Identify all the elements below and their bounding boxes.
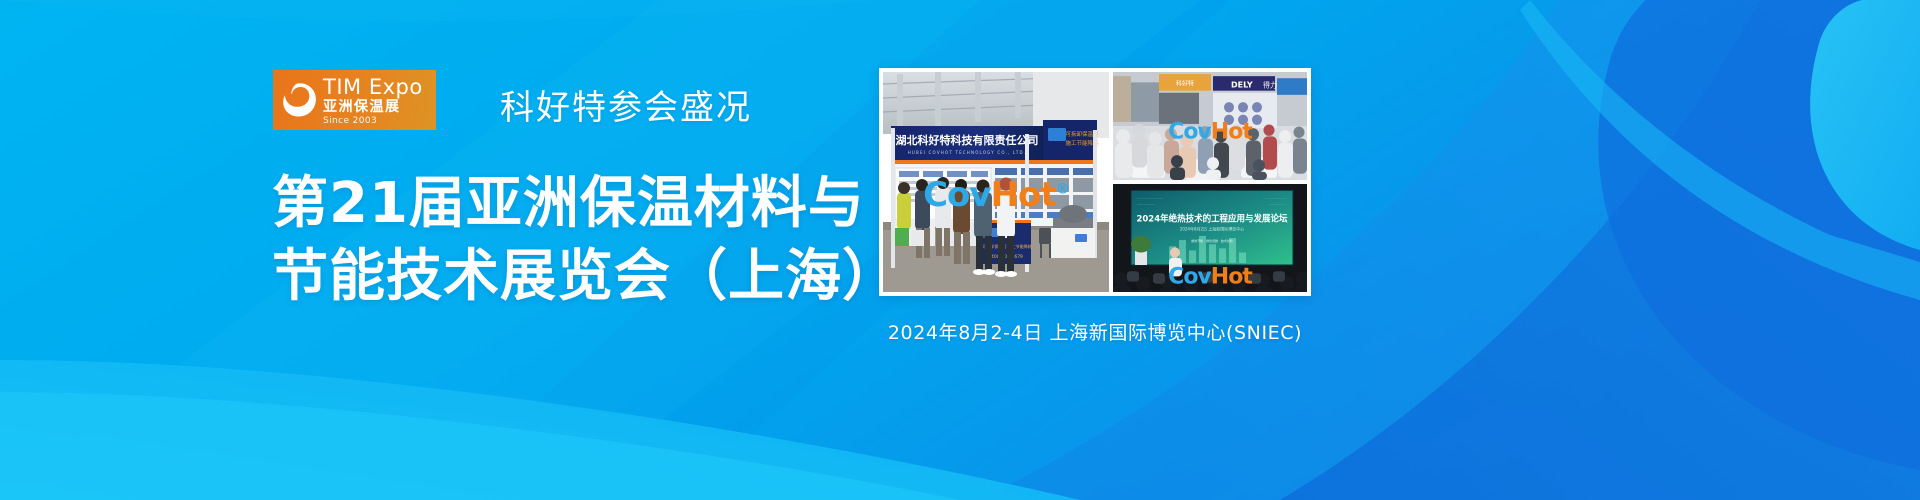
svg-text:DELY: DELY	[1231, 79, 1253, 89]
svg-text:绝热节能 · 绿色低碳 · 技术创新: 绝热节能 · 绿色低碳 · 技术创新	[1191, 238, 1233, 243]
date-venue-text: 2024年8月2-4日 上海新国际博览中心(SNIEC)	[879, 318, 1311, 345]
logo-since-text: Since 2003	[323, 117, 423, 126]
svg-text:得力: 得力	[1263, 80, 1277, 89]
svg-text:HUBEI COVHOT TECHNOLOGY CO., L: HUBEI COVHOT TECHNOLOGY CO., LTD.	[908, 150, 1027, 155]
svg-text:2024年绝热技术的工程应用与发展论坛: 2024年绝热技术的工程应用与发展论坛	[1136, 212, 1287, 224]
forum-photo-image: 2024年绝热技术的工程应用与发展论坛 2024年8月2日 上海新国际博览中心 …	[1113, 184, 1307, 292]
headline-line-2: 节能技术展览会（上海）	[272, 241, 899, 314]
hall-crowd-photo-image: 科好特 DELY 得力	[1113, 72, 1307, 180]
hall-crowd-photo[interactable]: 科好特 DELY 得力	[1113, 72, 1307, 180]
svg-text:湖北科好特科技有限责任公司: 湖北科好特科技有限责任公司	[896, 133, 1039, 147]
exhibition-banner: TIM Expo 亚洲保温展 Since 2003 科好特参会盛况 第21届亚洲…	[0, 0, 1920, 500]
headline-line-1: 第21届亚洲保温材料与	[272, 168, 899, 241]
banner-subtitle: 科好特参会盛况	[500, 80, 752, 129]
booth-photo-image: 湖北科好特科技有限责任公司 HUBEI COVHOT TECHNOLOGY CO…	[883, 72, 1109, 292]
booth-photo[interactable]: 湖北科好特科技有限责任公司 HUBEI COVHOT TECHNOLOGY CO…	[883, 72, 1109, 292]
exhibition-photo-collage: 湖北科好特科技有限责任公司 HUBEI COVHOT TECHNOLOGY CO…	[879, 68, 1311, 296]
logo-english-text: TIM Expo	[323, 77, 423, 98]
forum-photo[interactable]: 2024年绝热技术的工程应用与发展论坛 2024年8月2日 上海新国际博览中心 …	[1113, 184, 1307, 292]
swirl-yin-yang-icon	[279, 80, 319, 120]
tim-expo-logo[interactable]: TIM Expo 亚洲保温展 Since 2003	[273, 70, 436, 130]
svg-text:2024年8月2日 上海新国际博览中心: 2024年8月2日 上海新国际博览中心	[1180, 226, 1244, 232]
page-title: 第21届亚洲保温材料与 节能技术展览会（上海）	[272, 168, 899, 314]
svg-text:科好特: 科好特	[1176, 79, 1194, 87]
logo-chinese-text: 亚洲保温展	[323, 100, 423, 114]
